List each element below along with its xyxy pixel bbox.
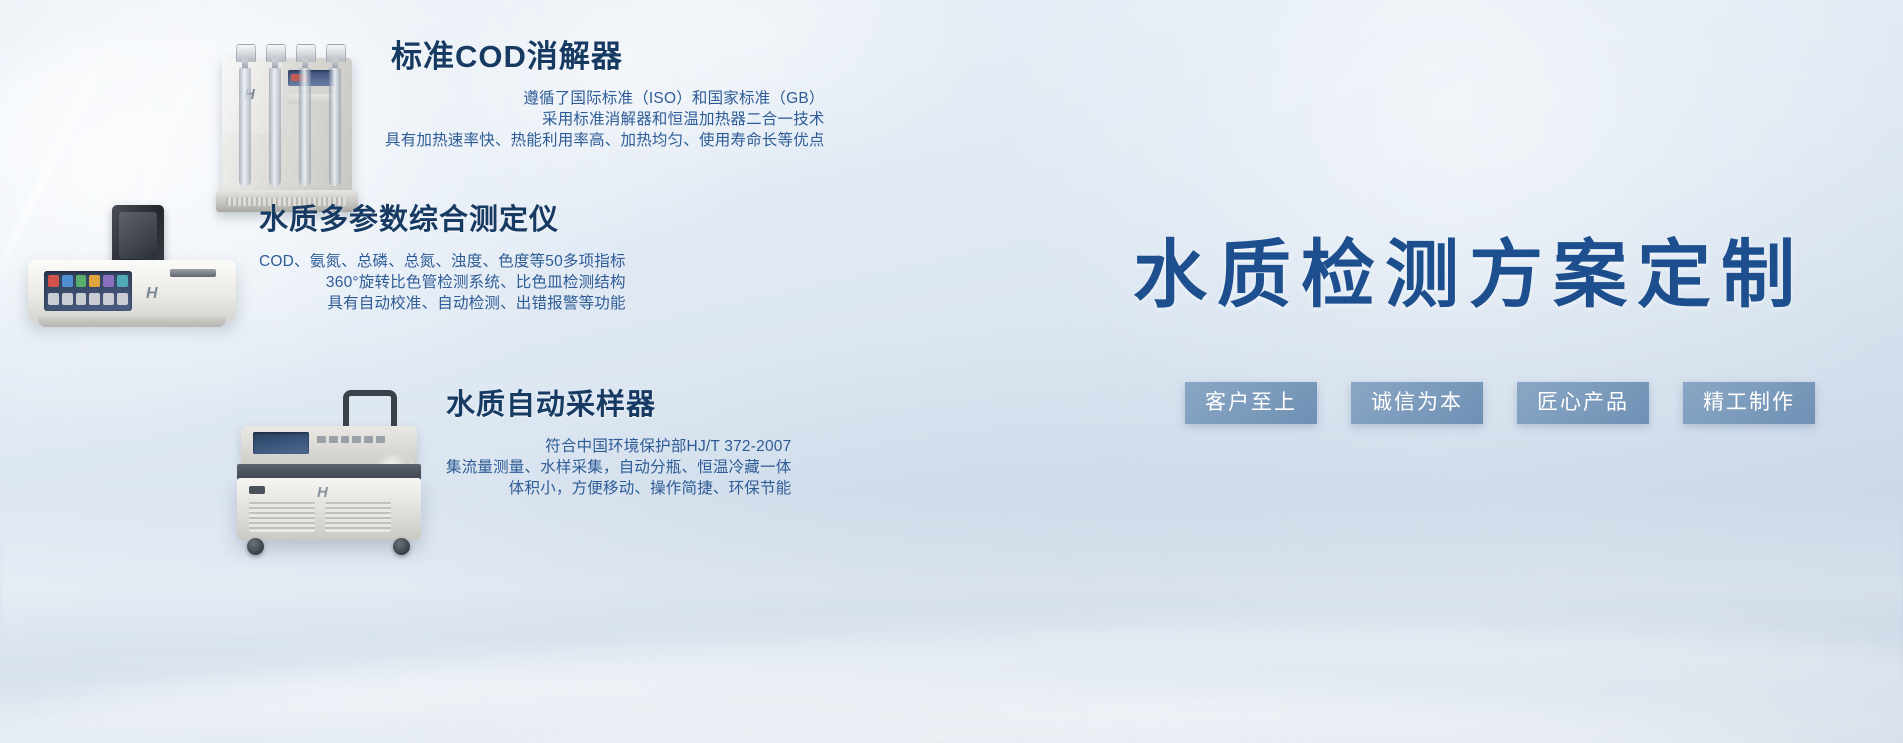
- cod-digestor-photo: H: [200, 40, 375, 215]
- product-title: 标准COD消解器: [391, 40, 825, 74]
- slogan-badge-list: 客户至上 诚信为本 匠心产品 精工制作: [1185, 382, 1815, 424]
- multiparameter-analyzer-photo: H: [20, 205, 245, 335]
- product-description: COD、氨氮、总磷、总氮、浊度、色度等50多项指标 360°旋转比色管检测系统、…: [259, 251, 626, 314]
- product-title: 水质多参数综合测定仪: [259, 205, 626, 237]
- slogan-badge-craftsmanship[interactable]: 匠心产品: [1517, 382, 1649, 424]
- product-desc-line: 体积小，方便移动、操作简捷、环保节能: [446, 478, 791, 499]
- product-desc-line: 遵循了国际标准（ISO）和国家标准（GB）: [385, 88, 825, 109]
- slogan-badge-fine-manufacturing[interactable]: 精工制作: [1683, 382, 1815, 424]
- wave-decoration: [0, 634, 1903, 743]
- product-text-cod-digestor: 标准COD消解器 遵循了国际标准（ISO）和国家标准（GB） 采用标准消解器和恒…: [385, 40, 825, 151]
- product-desc-line: 符合中国环境保护部HJ/T 372-2007: [446, 436, 791, 457]
- banner-headline: 水质检测方案定制: [1133, 238, 1805, 312]
- slogan-badge-customer-first[interactable]: 客户至上: [1185, 382, 1317, 424]
- auto-sampler-photo: H: [225, 390, 430, 555]
- product-desc-line: 集流量测量、水样采集，自动分瓶、恒温冷藏一体: [446, 457, 791, 478]
- product-block-cod-digestor: H 标准COD消解器 遵循了国际标准（ISO）和国家标准（GB） 采用标准消解器…: [200, 40, 825, 215]
- wave-decoration: [0, 593, 1903, 743]
- product-title: 水质自动采样器: [446, 390, 791, 422]
- product-description: 符合中国环境保护部HJ/T 372-2007 集流量测量、水样采集，自动分瓶、恒…: [446, 436, 791, 499]
- slogan-badge-integrity[interactable]: 诚信为本: [1351, 382, 1483, 424]
- product-text-auto-sampler: 水质自动采样器 符合中国环境保护部HJ/T 372-2007 集流量测量、水样采…: [446, 390, 791, 499]
- product-desc-line: 具有加热速率快、热能利用率高、加热均匀、使用寿命长等优点: [385, 130, 825, 151]
- product-block-multiparameter-analyzer: H 水质多参数综合测定仪 COD、氨氮、总磷、总氮、浊度、色度等50多项指标 3…: [20, 205, 626, 335]
- wave-decoration: [0, 648, 1903, 743]
- product-text-multiparameter-analyzer: 水质多参数综合测定仪 COD、氨氮、总磷、总氮、浊度、色度等50多项指标 360…: [259, 205, 626, 314]
- product-desc-line: 360°旋转比色管检测系统、比色皿检测结构: [259, 272, 626, 293]
- product-desc-line: 采用标准消解器和恒温加热器二合一技术: [385, 109, 825, 130]
- product-desc-line: 具有自动校准、自动检测、出错报警等功能: [259, 293, 626, 314]
- product-description: 遵循了国际标准（ISO）和国家标准（GB） 采用标准消解器和恒温加热器二合一技术…: [385, 88, 825, 151]
- water-quality-banner: H 标准COD消解器 遵循了国际标准（ISO）和国家标准（GB） 采用标准消解器…: [0, 0, 1903, 743]
- product-desc-line: COD、氨氮、总磷、总氮、浊度、色度等50多项指标: [259, 251, 626, 272]
- product-block-auto-sampler: H 水质自动采样器 符合中国环境保护部HJ/T 372-2007 集流量测量、水…: [225, 390, 791, 555]
